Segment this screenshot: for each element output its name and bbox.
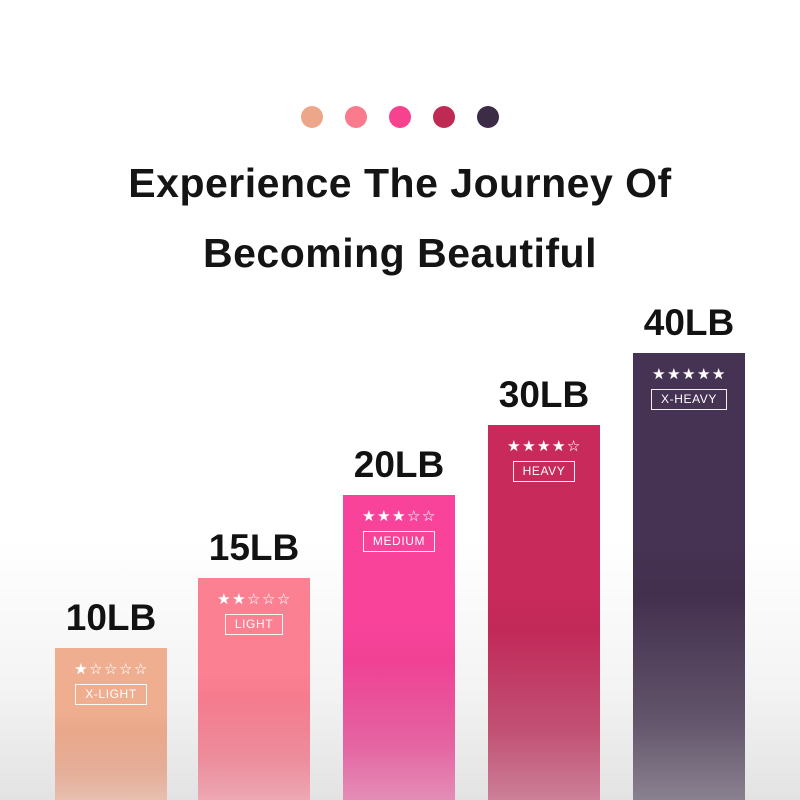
star-filled-icon: ★	[522, 439, 536, 454]
bar-column[interactable]: 10LB★☆☆☆☆X-LIGHT	[55, 648, 167, 800]
star-empty-icon: ☆	[104, 662, 118, 677]
bar-column[interactable]: 15LB★★☆☆☆LIGHT	[198, 578, 310, 800]
star-empty-icon: ☆	[262, 592, 276, 607]
bar-value-label: 20LB	[354, 446, 444, 495]
bar-fill: ★★☆☆☆LIGHT	[198, 578, 310, 800]
star-rating: ★★★★★	[652, 367, 726, 382]
resistance-level-badge: HEAVY	[513, 461, 576, 482]
resistance-band-bar-chart: 10LB★☆☆☆☆X-LIGHT15LB★★☆☆☆LIGHT20LB★★★☆☆M…	[0, 0, 800, 800]
bar-fill: ★★★☆☆MEDIUM	[343, 495, 455, 800]
star-rating: ★★★★☆	[507, 439, 581, 454]
resistance-level-badge: LIGHT	[225, 614, 283, 635]
poster-stage: Experience The Journey Of Becoming Beaut…	[0, 0, 800, 800]
bar-value-label: 40LB	[644, 304, 734, 353]
bar-column[interactable]: 30LB★★★★☆HEAVY	[488, 425, 600, 800]
star-filled-icon: ★	[232, 592, 246, 607]
star-filled-icon: ★	[712, 367, 726, 382]
bar-value-label: 30LB	[499, 376, 589, 425]
bar-column[interactable]: 40LB★★★★★X-HEAVY	[633, 353, 745, 800]
star-filled-icon: ★	[74, 662, 88, 677]
star-rating: ★★☆☆☆	[217, 592, 291, 607]
star-filled-icon: ★	[667, 367, 681, 382]
bar-content: ★★★★☆HEAVY	[488, 439, 600, 482]
star-filled-icon: ★	[652, 367, 666, 382]
star-empty-icon: ☆	[89, 662, 103, 677]
bar-fill: ★★★★☆HEAVY	[488, 425, 600, 800]
resistance-level-badge: X-HEAVY	[651, 389, 727, 410]
star-empty-icon: ☆	[407, 509, 421, 524]
star-filled-icon: ★	[537, 439, 551, 454]
star-empty-icon: ☆	[119, 662, 133, 677]
bar-fill: ★★★★★X-HEAVY	[633, 353, 745, 800]
bar-content: ★☆☆☆☆X-LIGHT	[55, 662, 167, 705]
bar-content: ★★★☆☆MEDIUM	[343, 509, 455, 552]
star-rating: ★★★☆☆	[362, 509, 436, 524]
bar-content: ★★★★★X-HEAVY	[633, 367, 745, 410]
resistance-level-badge: MEDIUM	[363, 531, 435, 552]
bar-value-label: 15LB	[209, 529, 299, 578]
star-filled-icon: ★	[392, 509, 406, 524]
star-filled-icon: ★	[682, 367, 696, 382]
resistance-level-badge: X-LIGHT	[75, 684, 147, 705]
star-filled-icon: ★	[507, 439, 521, 454]
star-rating: ★☆☆☆☆	[74, 662, 148, 677]
bar-fill: ★☆☆☆☆X-LIGHT	[55, 648, 167, 800]
star-empty-icon: ☆	[567, 439, 581, 454]
star-empty-icon: ☆	[277, 592, 291, 607]
star-filled-icon: ★	[697, 367, 711, 382]
star-filled-icon: ★	[377, 509, 391, 524]
star-filled-icon: ★	[217, 592, 231, 607]
bar-value-label: 10LB	[66, 599, 156, 648]
star-empty-icon: ☆	[134, 662, 148, 677]
star-filled-icon: ★	[362, 509, 376, 524]
star-filled-icon: ★	[552, 439, 566, 454]
bar-content: ★★☆☆☆LIGHT	[198, 592, 310, 635]
bar-column[interactable]: 20LB★★★☆☆MEDIUM	[343, 495, 455, 800]
star-empty-icon: ☆	[422, 509, 436, 524]
star-empty-icon: ☆	[247, 592, 261, 607]
